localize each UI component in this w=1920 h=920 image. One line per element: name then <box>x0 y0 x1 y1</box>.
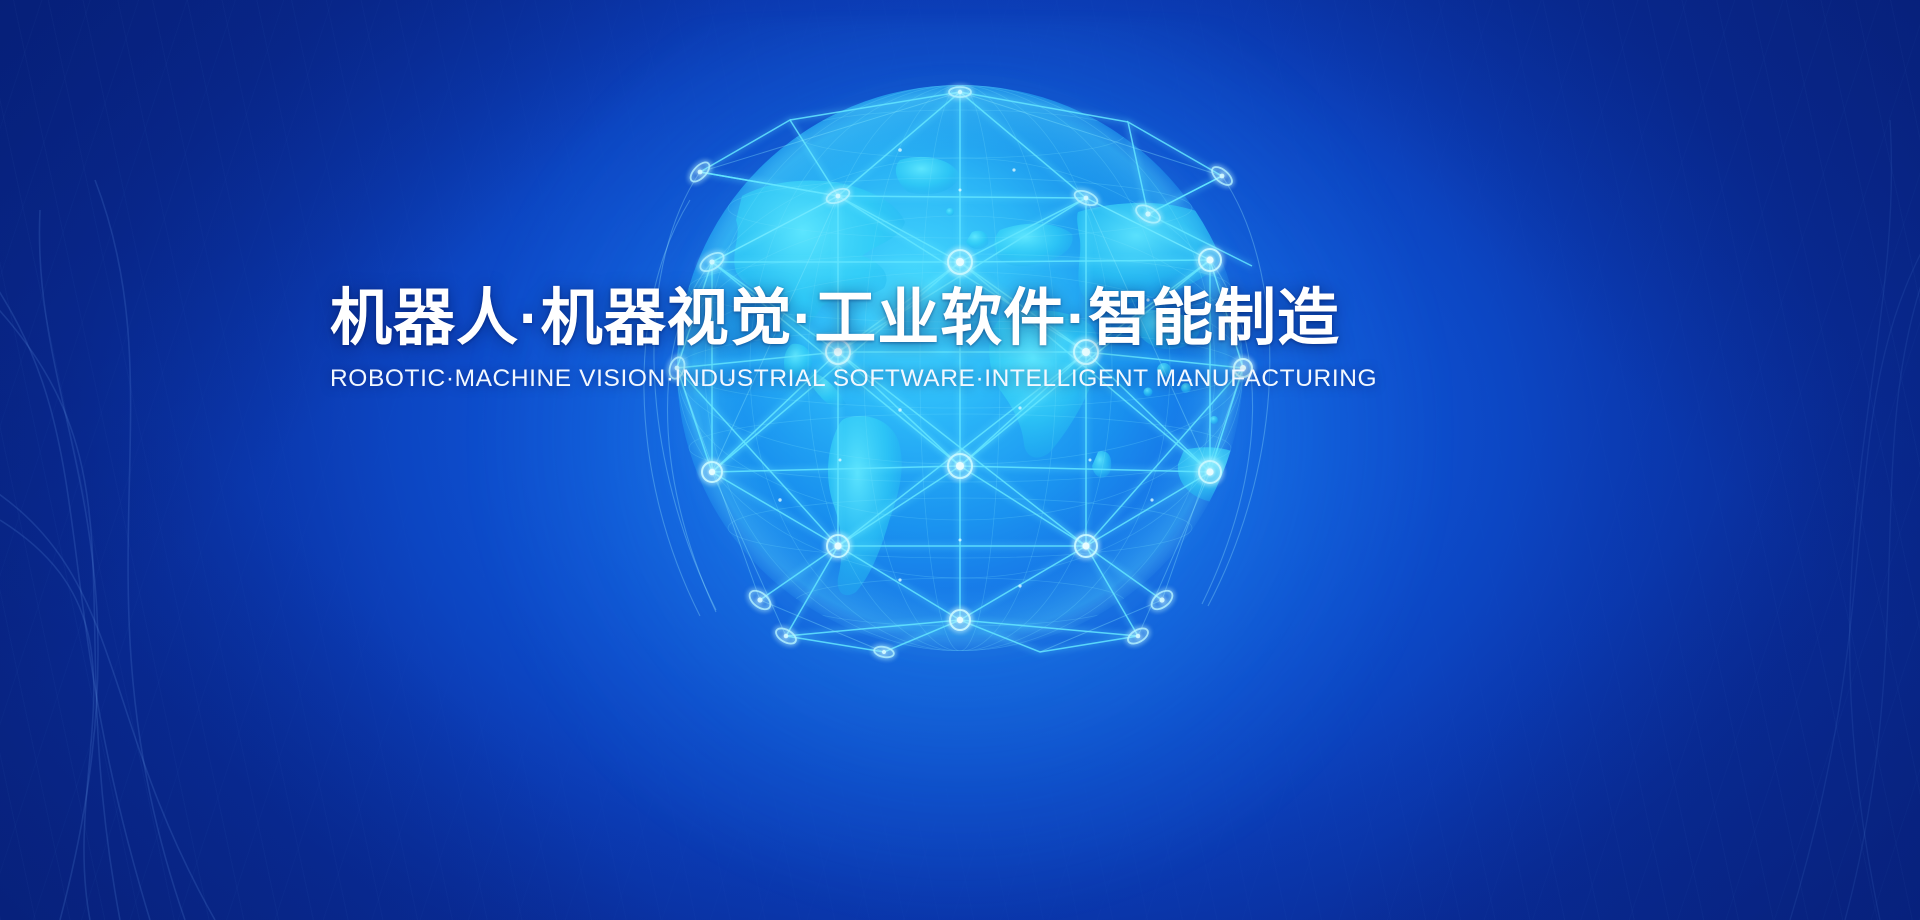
network-globe-graphic <box>0 0 1920 920</box>
hero-banner: 机器人·机器视觉·工业软件·智能制造 ROBOTIC·MACHINE VISIO… <box>0 0 1920 920</box>
